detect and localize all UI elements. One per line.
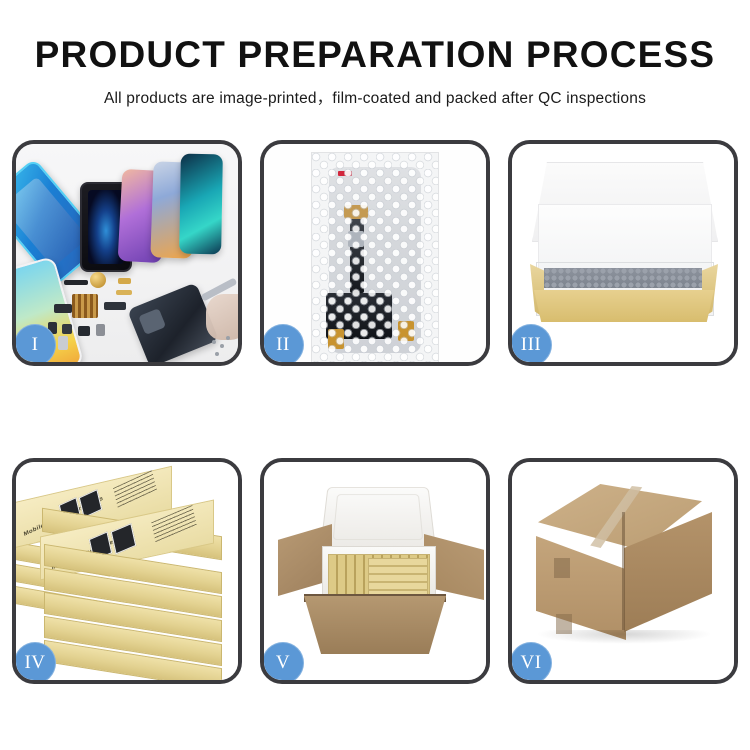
page-subtitle: All products are image-printed，film-coat… <box>0 86 750 108</box>
box-front-panel-icon <box>534 290 714 322</box>
box-screen-graphic <box>111 523 137 554</box>
process-steps-grid: I II <box>12 140 738 684</box>
step-badge-6: VI <box>510 642 552 684</box>
step-badge-1: I <box>14 324 56 366</box>
camera-module-icon <box>54 304 72 313</box>
process-step-panel-1: I <box>12 140 242 366</box>
page-header: PRODUCT PREPARATION PROCESS All products… <box>0 0 750 108</box>
carton-shadow <box>536 630 712 644</box>
chip-grid-icon <box>72 294 98 318</box>
process-step-panel-6: VI <box>508 458 738 684</box>
sim-tray-icon <box>58 336 68 350</box>
flex-cable-icon <box>64 280 88 285</box>
hand-icon <box>206 294 238 340</box>
carton-left-face-icon <box>536 536 626 640</box>
component-icon <box>62 324 72 334</box>
box-spec-lines <box>151 505 197 543</box>
step-badge-4: IV <box>14 642 56 684</box>
step-badge-3: III <box>510 324 552 366</box>
component-icon <box>96 324 105 336</box>
bubble-wrap-bag <box>311 152 439 362</box>
flex-cable-icon <box>104 302 126 310</box>
foam-lid-icon <box>320 487 436 549</box>
gold-boxes-inside-icon <box>368 558 428 598</box>
small-connector-icon <box>118 278 131 284</box>
process-step-panel-5: V <box>260 458 490 684</box>
component-icon <box>78 326 90 336</box>
teal-phone-icon <box>179 154 223 255</box>
bubble-texture-overlay <box>312 153 438 362</box>
small-connector-icon <box>116 290 132 295</box>
box-inner-wall-icon <box>538 204 712 276</box>
step-badge-2: II <box>262 324 304 366</box>
box-spec-lines <box>113 470 157 508</box>
page-title: PRODUCT PREPARATION PROCESS <box>0 36 750 73</box>
step-badge-5: V <box>262 642 304 684</box>
carton-edge-seam <box>622 512 625 630</box>
process-step-panel-4: Mobile Phone Spare Parts Mobile Phone Sp… <box>12 458 242 684</box>
screws-icon <box>212 340 216 344</box>
carton-front-icon <box>304 596 446 654</box>
carton-tab-icon <box>554 558 570 578</box>
process-step-panel-3: III <box>508 140 738 366</box>
product-preparation-page: PRODUCT PREPARATION PROCESS All products… <box>0 0 750 750</box>
gold-coil-icon <box>90 272 106 288</box>
process-step-panel-2: II <box>260 140 490 366</box>
